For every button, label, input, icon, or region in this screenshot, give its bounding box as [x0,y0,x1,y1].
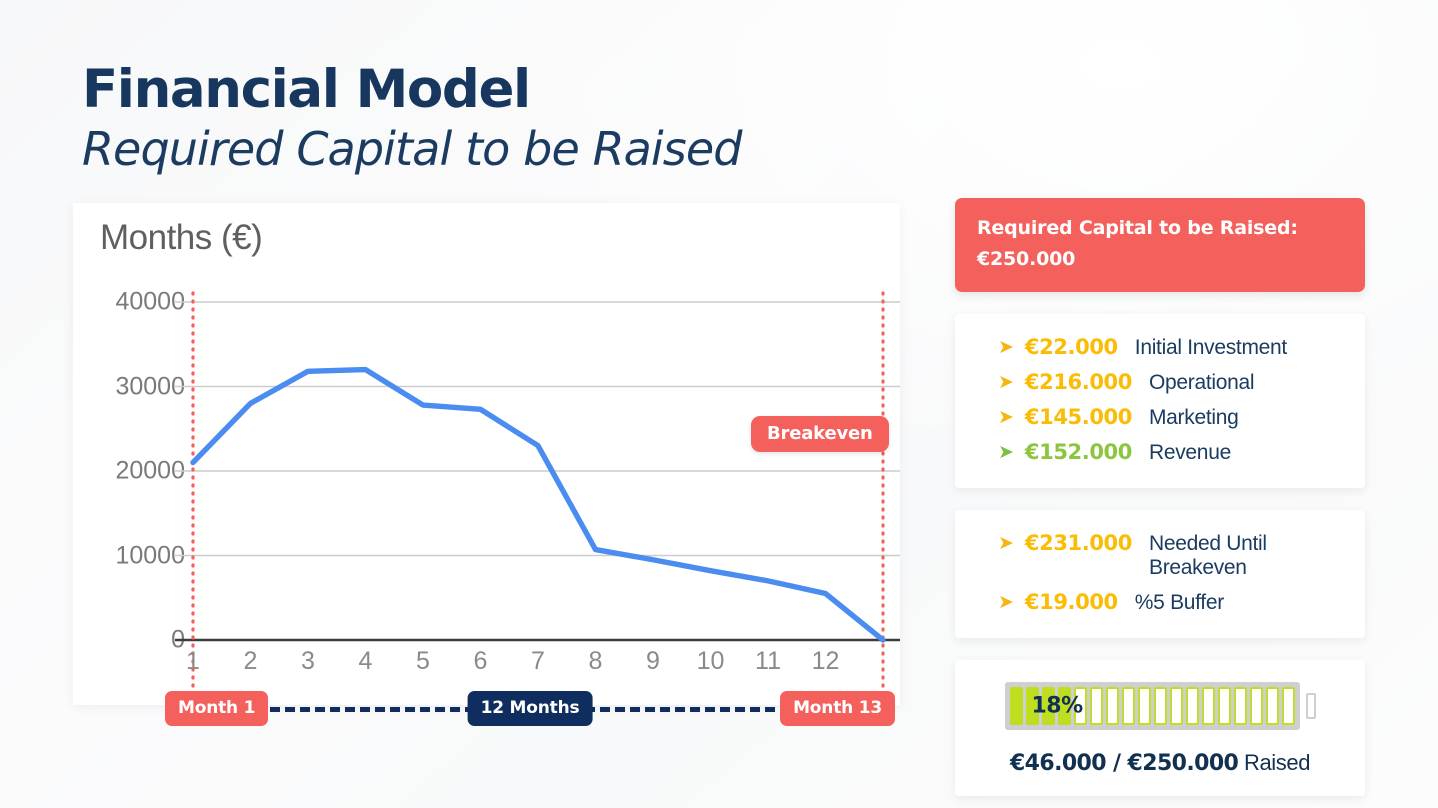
funding-needed-card: ➤€231.000Needed Until Breakeven➤€19.000%… [955,510,1365,638]
x-tick-label: 1 [186,647,200,676]
list-item: ➤€22.000Initial Investment [975,330,1345,365]
required-capital-amount: €250.000 [977,244,1343,275]
battery-cell [1106,687,1119,725]
battery-tip-icon [1306,693,1316,719]
x-tick-label: 8 [589,647,603,676]
list-item-amount: €22.000 [1025,335,1118,359]
raised-separator: / [1106,751,1128,776]
required-capital-label: Required Capital to be Raised: [977,213,1343,244]
battery-progress-wrap: 18% [975,682,1345,730]
list-item-amount: €19.000 [1025,590,1118,614]
battery-cell [1154,687,1167,725]
x-tick-label: 7 [531,647,545,676]
required-capital-banner: Required Capital to be Raised: €250.000 [955,198,1365,292]
page-subtitle: Required Capital to be Raised [82,124,742,176]
bullet-arrow-icon: ➤ [998,408,1014,427]
battery-cell [1282,687,1295,725]
battery-progress-bar: 18% [1005,682,1300,730]
x-tick-label: 6 [474,647,488,676]
battery-cell [1186,687,1199,725]
progress-percent-label: 18% [1032,693,1083,718]
list-item: ➤€145.000Marketing [975,400,1345,435]
list-item-label: %5 Buffer [1135,591,1224,615]
x-tick-label: 4 [359,647,373,676]
goal-amount: €250.000 [1128,751,1239,776]
timeline-start-badge: Month 1 [165,691,268,726]
x-tick-label: 10 [697,647,725,676]
battery-cell [1170,687,1183,725]
cost-breakdown-card: ➤€22.000Initial Investment➤€216.000Opera… [955,314,1365,488]
bullet-arrow-icon: ➤ [998,338,1014,357]
x-tick-label: 12 [812,647,840,676]
x-tick-label: 3 [301,647,315,676]
battery-cell [1218,687,1231,725]
chart-card: Months (€) 400003000020000100000 1234567… [73,203,900,705]
list-item-label: Marketing [1149,406,1239,430]
raised-summary-text: €46.000 / €250.000 Raised [975,750,1345,776]
battery-cell [1122,687,1135,725]
battery-cell [1250,687,1263,725]
list-item-amount: €152.000 [1025,440,1132,464]
x-tick-label: 11 [755,647,781,676]
list-item: ➤€19.000%5 Buffer [975,585,1345,620]
summary-panel: Required Capital to be Raised: €250.000 … [955,198,1365,796]
bullet-arrow-icon: ➤ [998,593,1014,612]
list-item: ➤€152.000Revenue [975,435,1345,470]
x-tick-label: 5 [416,647,430,676]
list-item-label: Initial Investment [1135,336,1287,360]
page-header: Financial Model Required Capital to be R… [82,62,742,176]
list-item: ➤€216.000Operational [975,365,1345,400]
breakeven-annotation-badge: Breakeven [751,416,889,452]
battery-cell [1010,687,1023,725]
raised-amount: €46.000 [1010,751,1106,776]
list-item-label: Operational [1149,371,1254,395]
list-item-label: Needed Until Breakeven [1149,532,1345,580]
timeline-middle-badge: 12 Months [468,691,593,726]
battery-cell [1202,687,1215,725]
line-chart-plot [73,203,900,705]
battery-cell [1090,687,1103,725]
timeline-end-badge: Month 13 [780,691,895,726]
x-tick-label: 2 [244,647,258,676]
battery-cell [1234,687,1247,725]
list-item-label: Revenue [1149,441,1231,465]
list-item-amount: €145.000 [1025,405,1132,429]
timeline-strip: Month 1 12 Months Month 13 [165,691,895,725]
list-item-amount: €216.000 [1025,370,1132,394]
x-tick-label: 9 [646,647,660,676]
fundraising-progress-card: 18% €46.000 / €250.000 Raised [955,660,1365,796]
list-item-amount: €231.000 [1025,531,1132,555]
list-item: ➤€231.000Needed Until Breakeven [975,526,1345,585]
bullet-arrow-icon: ➤ [998,373,1014,392]
page-title: Financial Model [82,62,742,118]
bullet-arrow-icon: ➤ [998,534,1014,553]
battery-cell [1138,687,1151,725]
raised-suffix: Raised [1238,750,1310,775]
bullet-arrow-icon: ➤ [998,443,1014,462]
battery-cell [1266,687,1279,725]
